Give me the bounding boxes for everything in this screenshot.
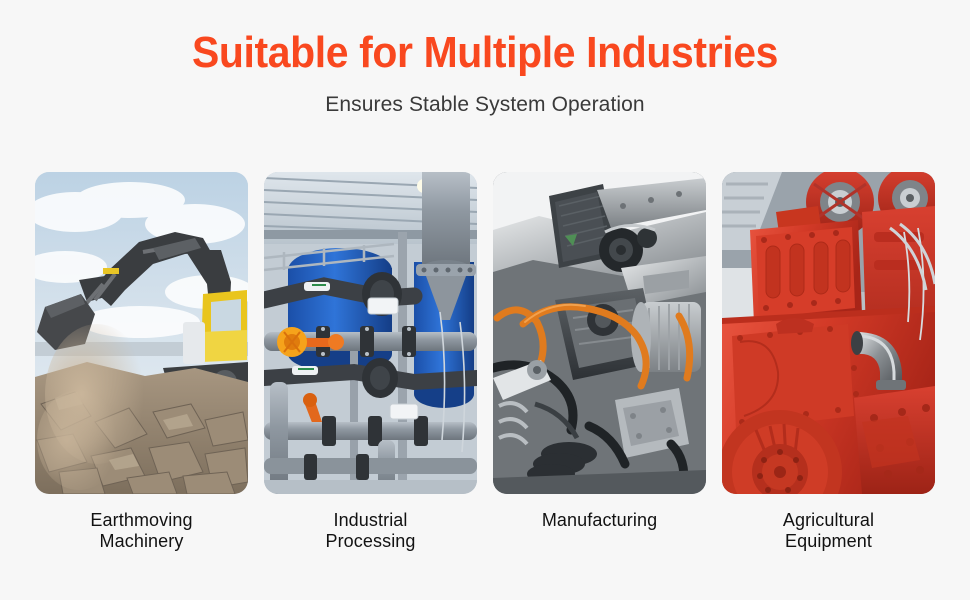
industry-card-earthmoving-machinery[interactable]: Earthmoving Machinery bbox=[35, 172, 248, 552]
excavator-digging-rocks-photo bbox=[35, 172, 248, 494]
banner-header: Suitable for Multiple Industries Ensures… bbox=[0, 0, 970, 118]
industry-card-agricultural-equipment[interactable]: Agricultural Equipment bbox=[722, 172, 935, 552]
industrial-pipework-valves-photo bbox=[264, 172, 477, 494]
red-diesel-engine-photo bbox=[722, 172, 935, 494]
industry-card-caption: Manufacturing bbox=[542, 510, 657, 531]
page-title: Suitable for Multiple Industries bbox=[34, 28, 936, 78]
industry-card-caption: Agricultural Equipment bbox=[783, 510, 874, 552]
industry-card-list: Earthmoving Machinery bbox=[35, 172, 935, 552]
page-subtitle: Ensures Stable System Operation bbox=[0, 92, 970, 118]
industry-card-caption: Earthmoving Machinery bbox=[90, 510, 192, 552]
industry-card-manufacturing[interactable]: Manufacturing bbox=[493, 172, 706, 552]
industries-banner: Suitable for Multiple Industries Ensures… bbox=[0, 0, 970, 600]
vehicle-engine-bay-photo bbox=[493, 172, 706, 494]
industry-card-industrial-processing[interactable]: Industrial Processing bbox=[264, 172, 477, 552]
industry-card-caption: Industrial Processing bbox=[325, 510, 415, 552]
